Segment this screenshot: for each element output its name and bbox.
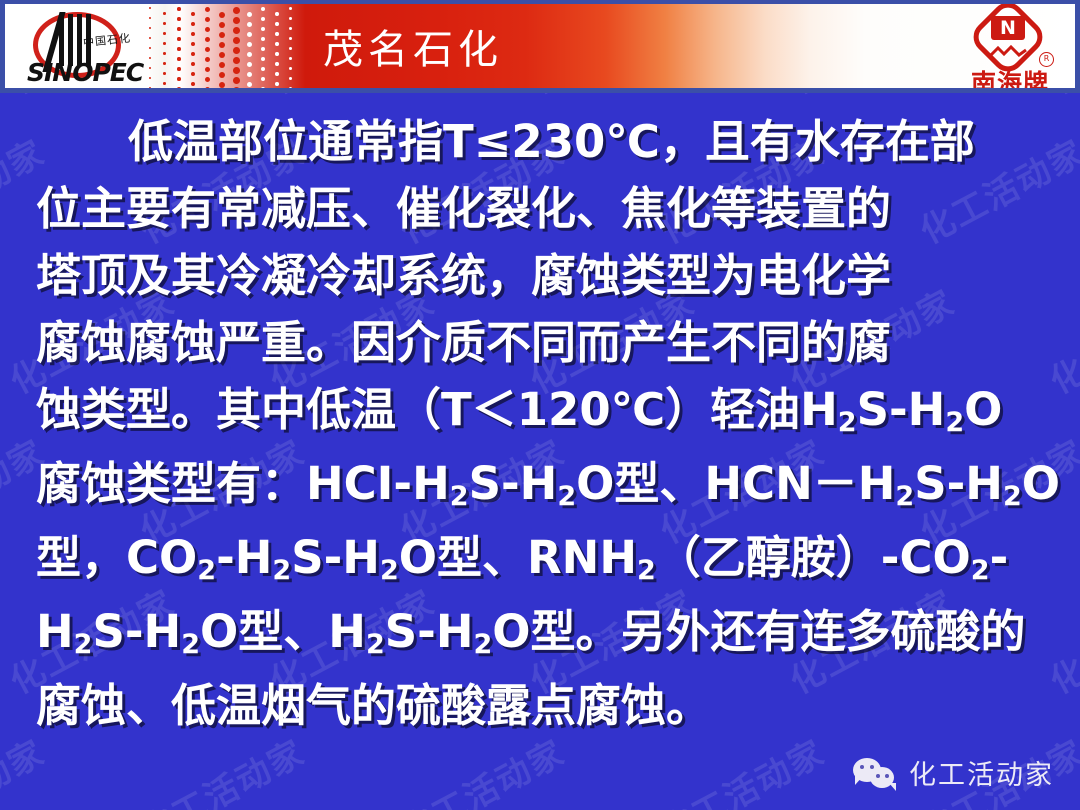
halftone-dot — [219, 52, 225, 58]
slide-header: 中国石化 SINOPEC 茂名石化 N R 南海牌 — [0, 0, 1080, 93]
text-run: O型。另外还有连多硫酸的 — [492, 605, 1025, 658]
halftone-dot — [205, 57, 210, 62]
halftone-dot — [289, 77, 292, 80]
halftone-dot — [219, 22, 225, 28]
halftone-dot — [289, 67, 292, 70]
halftone-dot — [205, 47, 210, 52]
halftone-dot — [289, 37, 292, 40]
halftone-dot — [163, 12, 166, 15]
chemical-subscript: 2 — [181, 629, 200, 660]
halftone-dot — [191, 32, 195, 36]
halftone-dot — [275, 82, 279, 86]
text-run: S-H — [914, 457, 1003, 510]
chemical-subscript: 2 — [945, 407, 964, 438]
text-run: S-H — [291, 531, 380, 584]
text-run: -H — [216, 531, 272, 584]
text-line: 腐蚀、低温烟气的硫酸露点腐蚀。 — [36, 672, 1044, 739]
text-line: 塔顶及其冷凝冷却系统，腐蚀类型为电化学 — [36, 242, 1044, 309]
nanhai-chinese-label: 南海牌 — [951, 64, 1069, 88]
halftone-dot — [275, 72, 279, 76]
wechat-icon — [853, 756, 899, 790]
halftone-dot — [233, 37, 240, 44]
halftone-dot — [149, 7, 151, 9]
halftone-dot — [261, 17, 265, 21]
halftone-dot — [149, 17, 151, 19]
halftone-dot — [205, 27, 210, 32]
halftone-dot — [247, 22, 252, 27]
text-run: 腐蚀、低温烟气的硫酸露点腐蚀。 — [36, 679, 711, 732]
halftone-dot — [163, 32, 166, 35]
halftone-dot — [233, 17, 240, 24]
text-run: S-H — [385, 605, 474, 658]
halftone-dot — [219, 62, 225, 68]
halftone-dot — [233, 57, 240, 64]
halftone-dot — [289, 87, 292, 88]
halftone-dot — [163, 22, 166, 25]
halftone-dot — [177, 77, 181, 81]
halftone-dot — [219, 12, 225, 18]
halftone-dot — [177, 27, 181, 31]
halftone-dot — [289, 47, 292, 50]
halftone-dot — [205, 17, 210, 22]
text-line: 位主要有常减压、催化裂化、焦化等装置的 — [36, 175, 1044, 242]
halftone-dot — [247, 82, 252, 87]
halftone-dot — [275, 62, 279, 66]
halftone-dot — [289, 57, 292, 60]
halftone-dot — [177, 57, 181, 61]
text-run: - — [990, 531, 1009, 584]
text-run: 腐蚀类型有：HCI-H — [36, 457, 450, 510]
text-run: S-H — [469, 457, 558, 510]
halftone-dot — [233, 47, 240, 54]
halftone-dot — [233, 27, 240, 34]
halftone-dots-decoration — [145, 4, 315, 88]
halftone-dot — [233, 67, 240, 74]
halftone-dot — [177, 37, 181, 41]
text-run: 型，CO — [36, 531, 197, 584]
halftone-dot — [205, 67, 210, 72]
text-run: O — [1022, 457, 1060, 510]
halftone-dot — [289, 27, 292, 30]
halftone-dot — [247, 42, 252, 47]
halftone-dot — [149, 67, 151, 69]
halftone-dot — [177, 47, 181, 51]
text-line: 腐蚀类型有：HCI-H2S-H2O型、HCN－H2S-H2O — [36, 450, 1044, 524]
halftone-dot — [275, 12, 279, 16]
halftone-dot — [219, 82, 225, 88]
halftone-dot — [261, 7, 265, 11]
sinopec-wordmark: SINOPEC — [27, 58, 143, 87]
halftone-dot — [149, 77, 151, 79]
chemical-subscript: 2 — [838, 407, 857, 438]
presentation-slide: 化工活动家化工活动家化工活动家化工活动家化工活动家化工活动家化工活动家化工活动家… — [0, 0, 1080, 810]
halftone-dot — [149, 27, 151, 29]
halftone-dot — [205, 87, 210, 88]
text-run: S-H — [92, 605, 181, 658]
chemical-subscript: 2 — [74, 629, 93, 660]
halftone-dot — [191, 12, 195, 16]
sinopec-chinese-label: 中国石化 — [82, 30, 131, 51]
sinopec-logo: 中国石化 SINOPEC — [5, 4, 150, 88]
chemical-subscript: 2 — [450, 481, 469, 512]
halftone-dot — [205, 7, 210, 12]
halftone-dot — [191, 62, 195, 66]
text-run: 腐蚀腐蚀严重。因介质不同而产生不同的腐 — [36, 316, 891, 369]
text-run: 蚀类型。其中低温（T＜120℃）轻油H — [36, 383, 838, 436]
text-run: O型、RNH — [399, 531, 637, 584]
halftone-dot — [233, 7, 240, 14]
chemical-subscript: 2 — [895, 481, 914, 512]
text-run: （乙醇胺）-CO — [656, 531, 971, 584]
text-run: 低温部位通常指T≤230℃，且有水存在部 — [128, 115, 975, 168]
halftone-dot — [177, 17, 181, 21]
halftone-dot — [177, 7, 181, 11]
halftone-dot — [191, 82, 195, 86]
header-gradient-band: 中国石化 SINOPEC 茂名石化 N R 南海牌 — [5, 4, 1075, 88]
halftone-dot — [261, 27, 265, 31]
halftone-dot — [191, 52, 195, 56]
chemical-subscript: 2 — [380, 555, 399, 586]
halftone-dot — [177, 87, 181, 88]
halftone-dot — [233, 87, 240, 88]
text-line: 型，CO2-H2S-H2O型、RNH2（乙醇胺）-CO2- — [36, 524, 1044, 598]
page-title: 茂名石化 — [323, 17, 503, 75]
halftone-dot — [205, 37, 210, 42]
nanhai-logo: N R 南海牌 — [951, 4, 1069, 88]
chemical-subscript: 2 — [473, 629, 492, 660]
halftone-dot — [219, 32, 225, 38]
text-run: O型、H — [200, 605, 366, 658]
halftone-dot — [247, 62, 252, 67]
text-run: 塔顶及其冷凝冷却系统，腐蚀类型为电化学 — [36, 249, 891, 302]
halftone-dot — [163, 52, 166, 55]
halftone-dot — [247, 32, 252, 37]
halftone-dot — [275, 22, 279, 26]
text-line: 腐蚀腐蚀严重。因介质不同而产生不同的腐 — [36, 309, 1044, 376]
text-line: H2S-H2O型、H2S-H2O型。另外还有连多硫酸的 — [36, 598, 1044, 672]
chemical-subscript: 2 — [637, 555, 656, 586]
halftone-dot — [177, 67, 181, 71]
halftone-dot — [149, 47, 151, 49]
halftone-dot — [163, 42, 166, 45]
chemical-subscript: 2 — [366, 629, 385, 660]
chemical-subscript: 2 — [1003, 481, 1022, 512]
halftone-dot — [289, 17, 292, 20]
text-line: 低温部位通常指T≤230℃，且有水存在部 — [36, 108, 1044, 175]
chemical-subscript: 2 — [971, 555, 990, 586]
halftone-dot — [191, 22, 195, 26]
halftone-dot — [289, 7, 292, 10]
halftone-dot — [247, 12, 252, 17]
chemical-subscript: 2 — [272, 555, 291, 586]
text-run: H — [36, 605, 74, 658]
text-run: 位主要有常减压、催化裂化、焦化等装置的 — [36, 182, 891, 235]
halftone-dot — [163, 82, 166, 85]
halftone-dot — [219, 72, 225, 78]
halftone-dot — [219, 42, 225, 48]
slide-body-text: 低温部位通常指T≤230℃，且有水存在部位主要有常减压、催化裂化、焦化等装置的塔… — [0, 108, 1080, 739]
halftone-dot — [261, 87, 265, 88]
halftone-dot — [261, 47, 265, 51]
halftone-dot — [205, 77, 210, 82]
halftone-dot — [191, 72, 195, 76]
halftone-dot — [163, 62, 166, 65]
nanhai-letter-n: N — [991, 16, 1025, 40]
wechat-account-name: 化工活动家 — [909, 753, 1054, 792]
chemical-subscript: 2 — [197, 555, 216, 586]
halftone-dot — [261, 67, 265, 71]
text-run: O — [964, 383, 1002, 436]
halftone-dot — [275, 52, 279, 56]
wechat-badge: 化工活动家 — [853, 753, 1054, 792]
text-run: O型、HCN－H — [576, 457, 895, 510]
halftone-dot — [191, 42, 195, 46]
halftone-dot — [247, 52, 252, 57]
halftone-dot — [261, 77, 265, 81]
halftone-dot — [261, 57, 265, 61]
halftone-dot — [247, 72, 252, 77]
halftone-dot — [149, 87, 151, 88]
halftone-dot — [163, 72, 166, 75]
text-run: S-H — [857, 383, 946, 436]
halftone-dot — [149, 37, 151, 39]
halftone-dot — [275, 32, 279, 36]
halftone-dot — [149, 57, 151, 59]
halftone-dot — [275, 42, 279, 46]
text-line: 蚀类型。其中低温（T＜120℃）轻油H2S-H2O — [36, 376, 1044, 450]
nanhai-wave-icon — [989, 44, 1027, 58]
halftone-dot — [233, 77, 240, 84]
halftone-dot — [261, 37, 265, 41]
chemical-subscript: 2 — [557, 481, 576, 512]
